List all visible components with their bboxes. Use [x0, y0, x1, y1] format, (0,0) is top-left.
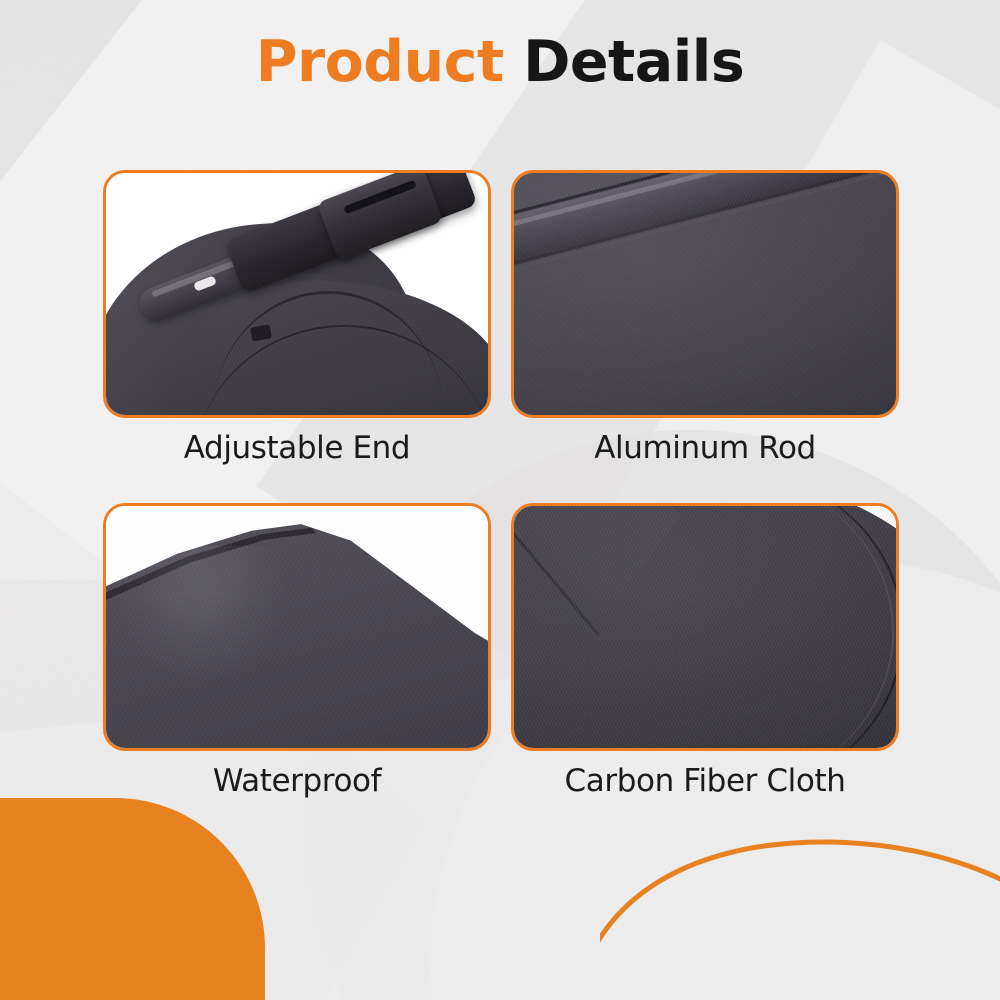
- feature-card-label: Carbon Fiber Cloth: [511, 763, 899, 800]
- feature-card-frame[interactable]: [103, 503, 491, 751]
- feature-card-row: Adjustable End Aluminum Rod: [103, 170, 898, 467]
- feature-card-carbon-fiber-cloth[interactable]: Carbon Fiber Cloth: [511, 503, 899, 800]
- feature-card-row: Waterproof Carbon Fiber Cloth: [103, 503, 898, 800]
- feature-card-label: Adjustable End: [103, 430, 491, 467]
- page-title-accent: Product: [256, 29, 504, 95]
- feature-card-label: Aluminum Rod: [511, 430, 899, 467]
- product-photo-waterproof: [106, 506, 488, 748]
- product-photo-aluminum-rod: [514, 173, 896, 415]
- page-title-main: Details: [523, 29, 744, 95]
- feature-card-frame[interactable]: [511, 170, 899, 418]
- product-photo-carbon-fiber-cloth: [514, 506, 896, 748]
- feature-card-frame[interactable]: [103, 170, 491, 418]
- feature-card-adjustable-end[interactable]: Adjustable End: [103, 170, 491, 467]
- product-photo-adjustable-end: [106, 173, 488, 415]
- feature-card-frame[interactable]: [511, 503, 899, 751]
- feature-card-waterproof[interactable]: Waterproof: [103, 503, 491, 800]
- feature-card-grid: Adjustable End Aluminum Rod: [103, 170, 898, 800]
- feature-card-label: Waterproof: [103, 763, 491, 800]
- page-title: Product Details: [0, 34, 1000, 91]
- feature-card-aluminum-rod[interactable]: Aluminum Rod: [511, 170, 899, 467]
